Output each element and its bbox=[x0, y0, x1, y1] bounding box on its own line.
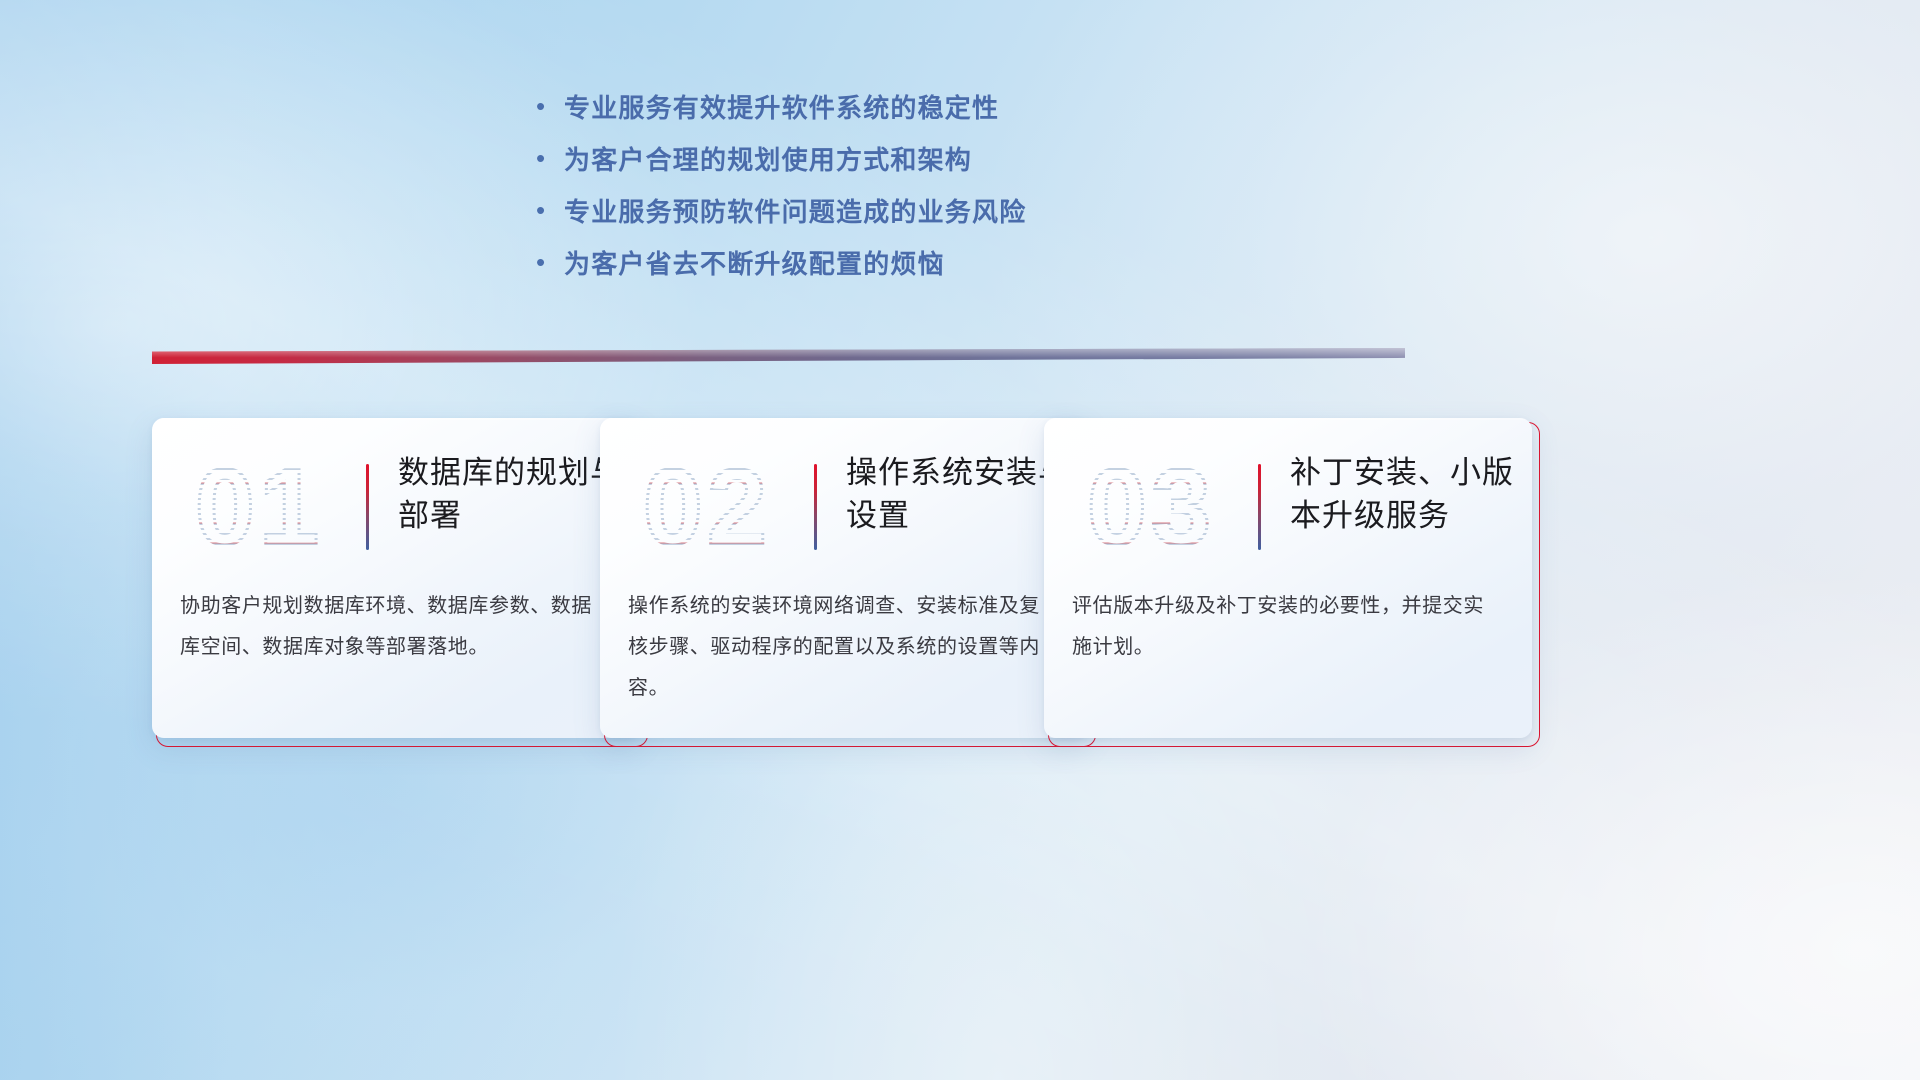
card-number-ghost-red: 02 bbox=[622, 448, 792, 566]
card-title-rule bbox=[1258, 464, 1261, 550]
card-title: 数据库的规划与部署 bbox=[398, 452, 624, 538]
card-title: 补丁安装、小版本升级服务 bbox=[1290, 452, 1516, 538]
service-card-02[interactable]: 02 02 操作系统安装与设置 操作系统的安装环境网络调查、安装标准及复核步骤、… bbox=[600, 418, 1092, 743]
bullet-marker-icon: • bbox=[536, 249, 564, 275]
card-header: 01 01 数据库的规划与部署 bbox=[152, 442, 640, 572]
section-divider bbox=[152, 348, 1405, 364]
benefits-bullet-list: • 专业服务有效提升软件系统的稳定性 • 为客户合理的规划使用方式和架构 • 专… bbox=[536, 88, 1026, 296]
bullet-text: 为客户省去不断升级配置的烦恼 bbox=[564, 244, 945, 281]
bullet-marker-icon: • bbox=[536, 145, 564, 171]
bullet-item: • 为客户合理的规划使用方式和架构 bbox=[536, 140, 1026, 192]
service-card-01[interactable]: 01 01 数据库的规划与部署 协助客户规划数据库环境、数据库参数、数据库空间、… bbox=[152, 418, 644, 743]
bullet-text: 专业服务有效提升软件系统的稳定性 bbox=[564, 88, 999, 125]
card-header: 03 03 补丁安装、小版本升级服务 bbox=[1044, 442, 1532, 572]
service-card-03[interactable]: 03 03 补丁安装、小版本升级服务 评估版本升级及补丁安装的必要性，并提交实施… bbox=[1044, 418, 1536, 743]
bullet-text: 专业服务预防软件问题造成的业务风险 bbox=[564, 192, 1026, 229]
service-card-row: 01 01 数据库的规划与部署 协助客户规划数据库环境、数据库参数、数据库空间、… bbox=[0, 418, 1920, 748]
bullet-text: 为客户合理的规划使用方式和架构 bbox=[564, 140, 972, 177]
card-description: 协助客户规划数据库环境、数据库参数、数据库空间、数据库对象等部署落地。 bbox=[180, 586, 612, 668]
bullet-item: • 专业服务预防软件问题造成的业务风险 bbox=[536, 192, 1026, 244]
bullet-item: • 专业服务有效提升软件系统的稳定性 bbox=[536, 88, 1026, 140]
card-title-rule bbox=[366, 464, 369, 550]
card-surface: 01 01 数据库的规划与部署 协助客户规划数据库环境、数据库参数、数据库空间、… bbox=[152, 418, 640, 738]
card-description: 操作系统的安装环境网络调查、安装标准及复核步骤、驱动程序的配置以及系统的设置等内… bbox=[628, 586, 1060, 709]
card-description: 评估版本升级及补丁安装的必要性，并提交实施计划。 bbox=[1072, 586, 1504, 668]
card-number-ghost-red: 01 bbox=[174, 448, 344, 566]
card-header: 02 02 操作系统安装与设置 bbox=[600, 442, 1088, 572]
card-surface: 02 02 操作系统安装与设置 操作系统的安装环境网络调查、安装标准及复核步骤、… bbox=[600, 418, 1088, 738]
bullet-item: • 为客户省去不断升级配置的烦恼 bbox=[536, 244, 1026, 296]
divider-highlight bbox=[152, 348, 1405, 364]
card-number-ghost-red: 03 bbox=[1066, 448, 1236, 566]
bullet-marker-icon: • bbox=[536, 93, 564, 119]
card-title-rule bbox=[814, 464, 817, 550]
card-surface: 03 03 补丁安装、小版本升级服务 评估版本升级及补丁安装的必要性，并提交实施… bbox=[1044, 418, 1532, 738]
bullet-marker-icon: • bbox=[536, 197, 564, 223]
card-title: 操作系统安装与设置 bbox=[846, 452, 1072, 538]
